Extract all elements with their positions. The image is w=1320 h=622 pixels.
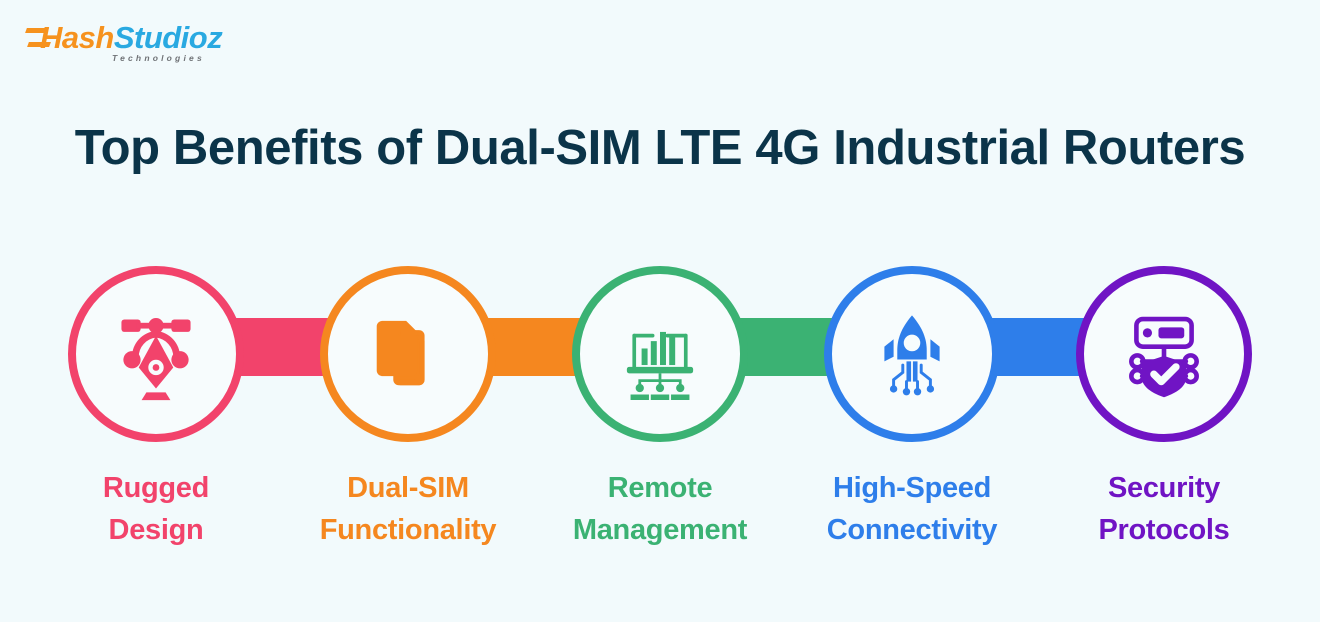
remote-monitoring-chart-icon: [614, 308, 706, 400]
steps-rail: RuggedDesign Dual-SIMFunctionality Remot…: [68, 262, 1252, 442]
benefit-step[interactable]: RuggedDesign: [68, 262, 244, 442]
pen-tool-icon: [108, 306, 204, 402]
benefit-label: SecurityProtocols: [1034, 467, 1294, 551]
benefit-label-line1: Remote: [530, 467, 790, 509]
benefit-icon-circle: [68, 266, 244, 442]
benefits-row: RuggedDesign Dual-SIMFunctionality Remot…: [0, 262, 1320, 562]
step-connector: [482, 318, 586, 376]
benefit-label: High-SpeedConnectivity: [782, 467, 1042, 551]
logo-text-hash: Hash: [40, 20, 114, 55]
step-connector: [986, 318, 1090, 376]
benefit-label: Dual-SIMFunctionality: [278, 467, 538, 551]
benefit-icon-circle: [824, 266, 1000, 442]
logo-slash-upper: [25, 28, 49, 33]
benefit-label: RuggedDesign: [26, 467, 286, 551]
benefit-step[interactable]: SecurityProtocols: [1076, 262, 1252, 442]
benefit-label-line2: Design: [26, 509, 286, 551]
logo-slash-lower: [27, 42, 51, 47]
benefit-step[interactable]: Dual-SIMFunctionality: [320, 262, 496, 442]
benefit-step[interactable]: High-SpeedConnectivity: [824, 262, 1000, 442]
benefit-label-line1: Dual-SIM: [278, 467, 538, 509]
company-logo: HashStudioz Technologies: [26, 22, 256, 70]
server-shield-check-icon: [1118, 308, 1210, 400]
benefit-label-line1: Rugged: [26, 467, 286, 509]
logo-tagline: Technologies: [112, 54, 256, 63]
logo-wordmark: HashStudioz: [40, 22, 256, 53]
benefit-label-line2: Functionality: [278, 509, 538, 551]
logo-text-studioz: Studioz: [114, 20, 222, 55]
benefit-icon-circle: [572, 266, 748, 442]
step-connector: [230, 318, 334, 376]
benefit-label-line2: Protocols: [1034, 509, 1294, 551]
benefit-label-line1: High-Speed: [782, 467, 1042, 509]
benefit-icon-circle: [320, 266, 496, 442]
dual-sim-cards-icon: [362, 308, 454, 400]
benefit-label-line1: Security: [1034, 467, 1294, 509]
benefit-label-line2: Connectivity: [782, 509, 1042, 551]
step-connector: [734, 318, 838, 376]
benefit-icon-circle: [1076, 266, 1252, 442]
page-title: Top Benefits of Dual-SIM LTE 4G Industri…: [50, 121, 1270, 176]
rocket-circuit-icon: [866, 308, 958, 400]
benefit-label-line2: Management: [530, 509, 790, 551]
benefit-label: RemoteManagement: [530, 467, 790, 551]
benefit-step[interactable]: RemoteManagement: [572, 262, 748, 442]
